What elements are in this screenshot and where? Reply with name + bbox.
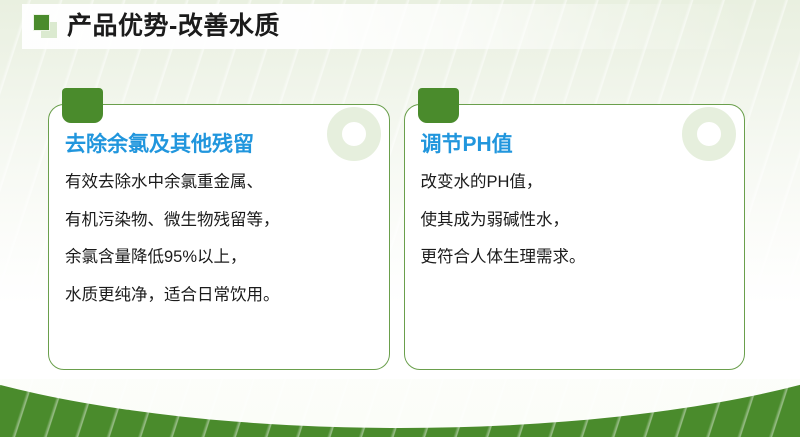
bottom-green-arc <box>0 379 800 437</box>
double-square-icon <box>32 13 58 39</box>
card-heading: 调节PH值 <box>421 133 745 156</box>
card-body-list: 有效去除水中余氯重金属、 有机污染物、微生物残留等， 余氯含量降低95%以上， … <box>65 174 389 303</box>
card-body-line: 余氯含量降低95%以上， <box>65 249 389 266</box>
card-body-line: 有机污染物、微生物残留等， <box>65 212 389 229</box>
card-body-line: 更符合人体生理需求。 <box>421 249 745 266</box>
slide-canvas: 产品优势-改善水质 去除余氯及其他残留 有效去除水中余氯重金属、 有机污染物、微… <box>0 0 800 437</box>
card-body-line: 有效去除水中余氯重金属、 <box>65 174 389 191</box>
card-body-line: 使其成为弱碱性水， <box>421 212 745 229</box>
card-body-line: 水质更纯净，适合日常饮用。 <box>65 287 389 304</box>
card-heading: 去除余氯及其他残留 <box>65 133 389 156</box>
card-body-list: 改变水的PH值， 使其成为弱碱性水， 更符合人体生理需求。 <box>421 174 745 266</box>
benefit-card-dechlorination: 去除余氯及其他残留 有效去除水中余氯重金属、 有机污染物、微生物残留等， 余氯含… <box>48 104 390 370</box>
benefit-card-ph-adjustment: 调节PH值 改变水的PH值， 使其成为弱碱性水， 更符合人体生理需求。 <box>404 104 746 370</box>
page-title: 产品优势-改善水质 <box>67 14 280 39</box>
cards-container: 去除余氯及其他残留 有效去除水中余氯重金属、 有机污染物、微生物残留等， 余氯含… <box>48 104 745 370</box>
card-body-line: 改变水的PH值， <box>421 174 745 191</box>
double-square-icon-front <box>33 14 50 31</box>
slide-title-bar: 产品优势-改善水质 <box>22 4 778 49</box>
